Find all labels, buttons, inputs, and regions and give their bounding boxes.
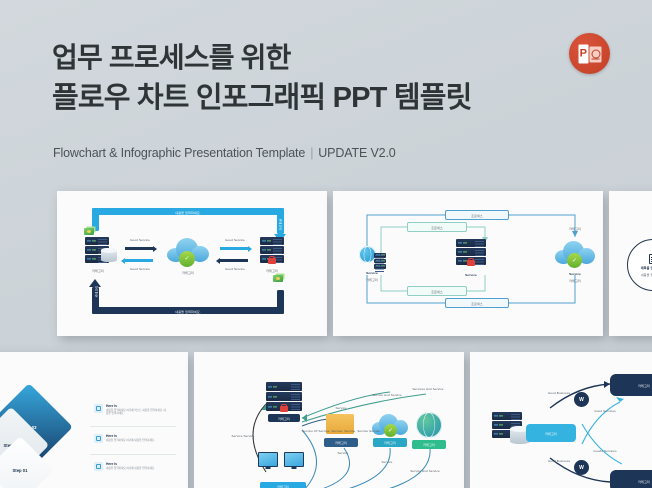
slide1-arrow-4: [220, 259, 248, 262]
slide1-lock-icon: [268, 258, 276, 264]
slide2-process-label-2: 프로세스: [431, 225, 443, 230]
slide5-edge-label-6: Service: [328, 451, 358, 455]
slide5-server-label-box: 카테고리: [268, 414, 300, 422]
subtitle-version: UPDATE V2.0: [318, 146, 395, 160]
slide-2-content: 프로세스 프로세스 프로세스 프로세스 Service 카테고리 Service: [333, 191, 603, 336]
slide5-edge-label-4: Service And Service: [370, 394, 404, 398]
subtitle-main: Flowchart & Infographic Presentation Tem…: [53, 146, 305, 160]
slide2-process-box-2: 프로세스: [407, 222, 467, 232]
slide6-node-label-bottom: 카테고리: [638, 479, 650, 484]
slide2-node-label-3: Service: [558, 272, 592, 276]
powerpoint-glyph: P: [578, 44, 601, 63]
slide5-node-2: 카테고리: [373, 438, 407, 447]
slide1-arrow-label-2: Good Service: [119, 267, 161, 271]
slide2-mini-server: [374, 253, 386, 269]
page-header: 업무 프로세스를 위한 플로우 차트 인포그래픽 PPT 템플릿 Flowcha…: [0, 0, 652, 190]
slide2-process-label-4: 프로세스: [471, 301, 483, 306]
slide5-server-label: 카테고리: [278, 416, 290, 421]
slide1-arrow-label-4: Good Service: [214, 267, 256, 271]
slide6-node-top: 카테고리: [610, 374, 652, 396]
slide2-process-box-1: 프로세스: [445, 210, 509, 220]
slide4-feature-2: Here Is 내용을 입력하세요 여기에 내용을 입력하세요.: [94, 434, 155, 443]
slide1-top-bar-label: 내용을 입력하세요.: [152, 210, 224, 215]
slide1-money-icon-left: [84, 228, 94, 235]
slide5-switch-label: 카테고리: [277, 484, 289, 488]
slide1-arrow-3: [220, 247, 248, 250]
slide3-document-icon: [649, 254, 652, 264]
slide6-w-badge-2: W: [574, 460, 589, 475]
calendar-icon: [94, 462, 103, 471]
page-title: 업무 프로세스를 위한 플로우 차트 인포그래픽 PPT 템플릿: [52, 38, 471, 118]
slide-thumbnail-5[interactable]: 카테고리 카테고리 카테고리 ✓ 카테고리 카테고리: [194, 352, 464, 488]
slide2-process-box-3: 프로세스: [407, 286, 467, 296]
slide1-arrow-2: [125, 259, 153, 262]
slide1-arrow-1: [125, 247, 153, 250]
slide5-edge-label-3: Service: [326, 406, 356, 410]
slide2-node-label-2: Service: [454, 273, 488, 277]
slide5-check-badge: ✓: [384, 424, 397, 437]
slide2-check-badge: ✓: [567, 253, 582, 268]
slide-5-content: 카테고리 카테고리 카테고리 ✓ 카테고리 카테고리: [194, 352, 464, 488]
slide3-badge-circle: 제목을 입력하세요 내용을 입력하세요: [627, 239, 652, 291]
slide6-edge-label-5: Good Business: [544, 460, 574, 464]
slide5-node-label-3: 카테고리: [423, 442, 435, 447]
slide1-arrow-label-1: Good Service: [119, 238, 161, 242]
slide5-monitor-1: [258, 452, 278, 469]
title-line-2: 플로우 차트 인포그래픽 PPT 템플릿: [52, 78, 471, 118]
slide-thumbnail-4[interactable]: Step 03 Step 02 Step 01 Here Is 내용을 입력하세…: [0, 352, 188, 488]
slide4-rule-1: [90, 426, 176, 427]
slide4-feature-1: Here Is 내용을 입력하세요 여기에 텍스트 내용을 입력하세요. 내용을…: [94, 404, 166, 416]
slide2-node-sublabel-1: 카테고리: [355, 277, 389, 282]
slide4-step-1-label: Step 01: [13, 468, 28, 473]
slide5-monitor-2: [284, 452, 304, 469]
powerpoint-icon: P: [569, 33, 610, 74]
slide-thumbnail-1[interactable]: 내용을 입력하세요. 카테고리 내용을 입력하세요. 카테고리 카테고리 ✓ 카…: [57, 191, 327, 336]
slide-4-content: Step 03 Step 02 Step 01 Here Is 내용을 입력하세…: [0, 352, 188, 488]
slide4-rule-2: [90, 454, 176, 455]
slide1-check-badge: ✓: [179, 251, 195, 267]
slide5-edge-label-2: Service Of Service, Service, Service, Se…: [302, 430, 338, 434]
slide3-circle-line-1: 제목을 입력하세요: [631, 265, 652, 270]
slide5-edge-label-7: Service: [372, 460, 402, 464]
slide4-feature-2-body: 내용을 입력하세요 여기에 내용을 입력하세요.: [106, 439, 155, 442]
slide2-node-sublabel-3: 카테고리: [558, 278, 592, 283]
slide6-node-label-top: 카테고리: [638, 383, 650, 388]
slide-thumbnail-2[interactable]: 프로세스 프로세스 프로세스 프로세스 Service 카테고리 Service: [333, 191, 603, 336]
slide2-process-label-3: 프로세스: [431, 289, 443, 294]
slide4-feature-1-title: Here Is: [106, 404, 166, 408]
slide2-process-box-4: 프로세스: [445, 298, 509, 308]
slide6-edge-label-1: Good Business: [544, 392, 574, 396]
slide-6-content: 카테고리 카테고리 카테고리 카테고리 W W W W Good Busines…: [470, 352, 652, 488]
people-icon: [94, 434, 103, 443]
subtitle-separator: |: [305, 146, 318, 160]
slide1-node-label-left: 카테고리: [83, 268, 113, 273]
slide2-lock-icon: [467, 260, 475, 266]
slide5-edge-label-5: Services And Service: [410, 388, 446, 392]
slide5-node-3: 카테고리: [412, 440, 446, 449]
slide5-switch: 카테고리: [260, 482, 306, 488]
title-line-1: 업무 프로세스를 위한: [52, 38, 471, 78]
slide6-w-badge-1: W: [574, 392, 589, 407]
slide5-node-1: 카테고리: [324, 438, 358, 447]
slide6-node-left: 카테고리: [526, 424, 576, 442]
slide5-edge-label-1: Service Service: [226, 434, 260, 438]
slide4-feature-2-title: Here Is: [106, 434, 155, 438]
slide1-money-icon-right: [273, 275, 283, 282]
slide1-bottom-bar-right-elbow: [277, 290, 284, 314]
slide4-feature-3-body: 내용을 입력하세요 여기에 내용을 입력하세요.: [106, 467, 155, 470]
slide-3-content: 제목을 입력하세요 내용을 입력하세요: [609, 191, 652, 336]
slide4-feature-3: Here Is 내용을 입력하세요 여기에 내용을 입력하세요.: [94, 462, 155, 471]
slide3-circle-line-2: 내용을 입력하세요: [631, 272, 652, 277]
slide1-node-label-right: 카테고리: [257, 268, 287, 273]
slide6-edge-label-2: Good Services: [590, 410, 620, 414]
slide1-database-icon: [101, 248, 117, 262]
slide1-arrow-label-3: Good Service: [214, 238, 256, 242]
slide1-right-side-label: 카테고리: [279, 215, 284, 235]
slide2-process-label-1: 프로세스: [471, 213, 483, 218]
slide-thumbnail-6[interactable]: 카테고리 카테고리 카테고리 카테고리 W W W W Good Busines…: [470, 352, 652, 488]
slide6-node-label-left: 카테고리: [545, 431, 557, 436]
slide-1-content: 내용을 입력하세요. 카테고리 내용을 입력하세요. 카테고리 카테고리 ✓ 카…: [57, 191, 327, 336]
slide6-node-bottom: 카테고리: [610, 470, 652, 488]
slide1-node-label-center: 카테고리: [173, 270, 203, 275]
slide2-node-label-1: Service: [355, 271, 389, 275]
slide5-edge-label-8: Service And Service: [408, 470, 442, 474]
slide-thumbnail-3[interactable]: 제목을 입력하세요 내용을 입력하세요: [609, 191, 652, 336]
slide5-lock-icon: [280, 406, 288, 412]
bag-icon: [94, 404, 103, 413]
subtitle: Flowchart & Infographic Presentation Tem…: [53, 146, 396, 160]
powerpoint-letter: P: [578, 44, 589, 63]
slide5-globe-icon: [416, 412, 442, 438]
slide4-feature-1-body: 내용을 입력하세요 여기에 텍스트 내용을 입력하세요. 내용을 입력하세요.: [106, 409, 166, 416]
slide1-bottom-bar-label: 내용을 입력하세요.: [152, 309, 224, 314]
slide1-left-side-label: 카테고리: [94, 282, 99, 302]
slide5-node-label-1: 카테고리: [335, 440, 347, 445]
slide6-edge-label-3: Goods Services: [590, 450, 620, 454]
powerpoint-slide-shape: [590, 46, 601, 62]
slide2-edge-label: 카테고리: [561, 226, 589, 231]
slide4-feature-3-title: Here Is: [106, 462, 155, 466]
slide5-node-label-2: 카테고리: [384, 440, 396, 445]
